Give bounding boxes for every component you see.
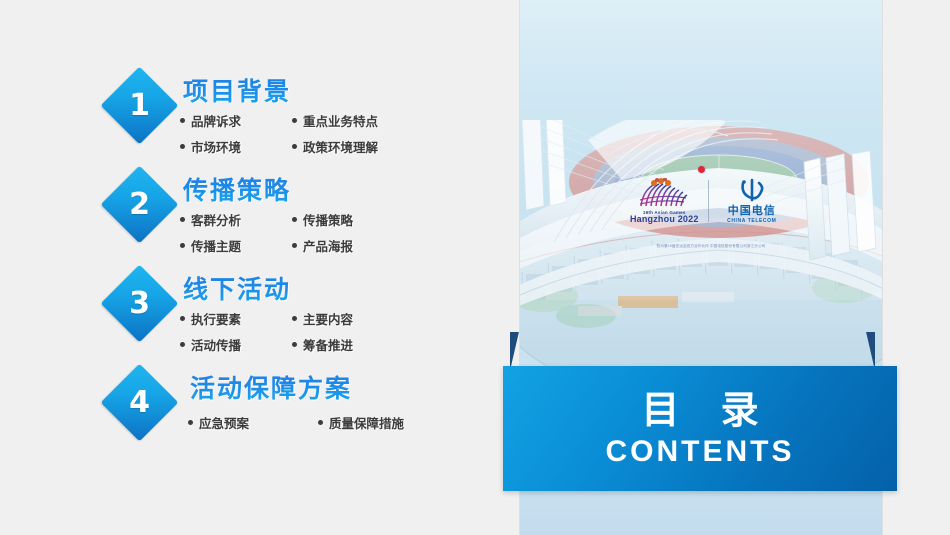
bullet-label: 产品海报 xyxy=(303,236,353,255)
bullet-item[interactable]: 主要内容 xyxy=(292,309,353,328)
bullet-dot-icon xyxy=(292,144,297,149)
venue-marker-dot-icon xyxy=(698,166,705,173)
bullet-label: 活动传播 xyxy=(191,335,241,354)
agenda-panel: 1 项目背景 品牌诉求 重点业务特点 市场环境 政策环境理解 2 传播策略 客群… xyxy=(0,0,500,535)
section-number-4: 4 xyxy=(112,375,167,430)
bullet-label: 客群分析 xyxy=(191,210,241,229)
section-number-badge-4: 4 xyxy=(101,364,179,442)
bullet-dot-icon xyxy=(180,243,185,248)
section-number-badge-2: 2 xyxy=(101,166,179,244)
section-bullets-2: 客群分析 传播策略 传播主题 产品海报 xyxy=(180,210,480,262)
bullet-row: 市场环境 政策环境理解 xyxy=(180,137,480,156)
bullet-dot-icon xyxy=(180,144,185,149)
bullet-row: 客群分析 传播策略 xyxy=(180,210,480,229)
bullet-item[interactable]: 品牌诉求 xyxy=(180,111,292,130)
bullet-dot-icon xyxy=(292,217,297,222)
section-number-badge-3: 3 xyxy=(101,265,179,343)
section-title-3: 线下活动 xyxy=(183,270,291,306)
section-title-4: 活动保障方案 xyxy=(190,369,352,405)
bullet-label: 应急预案 xyxy=(199,413,249,432)
bullet-item[interactable]: 活动传播 xyxy=(180,335,292,354)
bullet-dot-icon xyxy=(180,316,185,321)
bullet-item[interactable]: 产品海报 xyxy=(292,236,353,255)
agenda-section-2[interactable]: 2 传播策略 客群分析 传播策略 传播主题 产品海报 xyxy=(0,165,500,257)
hangzhou-asian-games-fan-icon xyxy=(633,178,695,208)
bullet-dot-icon xyxy=(180,342,185,347)
bullet-row: 执行要素 主要内容 xyxy=(180,309,480,328)
section-title-1: 项目背景 xyxy=(183,72,291,108)
china-telecom-logo: 中国电信 CHINA TELECOM xyxy=(716,178,789,224)
bullet-row: 应急预案 质量保障措施 xyxy=(188,413,498,432)
stadium-illustration xyxy=(520,120,882,400)
bullet-label: 政策环境理解 xyxy=(303,137,378,156)
bullet-item[interactable]: 客群分析 xyxy=(180,210,292,229)
bullet-label: 主要内容 xyxy=(303,309,353,328)
bullet-dot-icon xyxy=(292,316,297,321)
bullet-item[interactable]: 传播策略 xyxy=(292,210,353,229)
logo-divider xyxy=(708,180,709,222)
bullet-label: 传播主题 xyxy=(191,236,241,255)
logo-subtext: 杭州第19届亚运会官方合作伙伴 中国电信股份有限公司浙江分公司 xyxy=(616,244,806,249)
contents-box: 目 录 CONTENTS xyxy=(503,366,897,491)
section-number-1: 1 xyxy=(112,78,167,133)
asian-games-logo: 19th Asian Games Hangzhou 2022 xyxy=(628,178,701,224)
agenda-section-3[interactable]: 3 线下活动 执行要素 主要内容 活动传播 筹备推进 xyxy=(0,264,500,356)
section-bullets-4: 应急预案 质量保障措施 xyxy=(188,413,498,439)
agenda-section-4[interactable]: 4 活动保障方案 应急预案 质量保障措施 xyxy=(0,363,500,455)
bullet-item[interactable]: 筹备推进 xyxy=(292,335,353,354)
contents-title-en: CONTENTS xyxy=(606,437,795,467)
bullet-dot-icon xyxy=(292,342,297,347)
bullet-dot-icon xyxy=(188,420,193,425)
bullet-item[interactable]: 执行要素 xyxy=(180,309,292,328)
section-bullets-1: 品牌诉求 重点业务特点 市场环境 政策环境理解 xyxy=(180,111,480,163)
bullet-label: 执行要素 xyxy=(191,309,241,328)
bullet-dot-icon xyxy=(292,243,297,248)
bullet-item[interactable]: 重点业务特点 xyxy=(292,111,378,130)
bullet-label: 质量保障措施 xyxy=(329,413,404,432)
agenda-section-1[interactable]: 1 项目背景 品牌诉求 重点业务特点 市场环境 政策环境理解 xyxy=(0,66,500,158)
bullet-label: 筹备推进 xyxy=(303,335,353,354)
bullet-dot-icon xyxy=(180,217,185,222)
contents-title-cn: 目 录 xyxy=(627,391,772,429)
logo-strip: 19th Asian Games Hangzhou 2022 中国电信 CHIN… xyxy=(628,178,788,240)
bullet-label: 市场环境 xyxy=(191,137,241,156)
bullet-row: 活动传播 筹备推进 xyxy=(180,335,480,354)
section-number-badge-1: 1 xyxy=(101,67,179,145)
bullet-dot-icon xyxy=(292,118,297,123)
asian-games-logo-line2: Hangzhou 2022 xyxy=(628,215,701,224)
china-telecom-label-cn: 中国电信 xyxy=(716,205,789,217)
bullet-item[interactable]: 传播主题 xyxy=(180,236,292,255)
bullet-item[interactable]: 应急预案 xyxy=(188,413,318,432)
bullet-row: 传播主题 产品海报 xyxy=(180,236,480,255)
bullet-label: 传播策略 xyxy=(303,210,353,229)
bullet-dot-icon xyxy=(180,118,185,123)
bullet-label: 重点业务特点 xyxy=(303,111,378,130)
section-number-3: 3 xyxy=(112,276,167,331)
bullet-item[interactable]: 质量保障措施 xyxy=(318,413,404,432)
china-telecom-label-en: CHINA TELECOM xyxy=(716,218,789,224)
china-telecom-mark-icon xyxy=(737,178,767,204)
bullet-dot-icon xyxy=(318,420,323,425)
section-bullets-3: 执行要素 主要内容 活动传播 筹备推进 xyxy=(180,309,480,361)
bullet-item[interactable]: 政策环境理解 xyxy=(292,137,378,156)
section-number-2: 2 xyxy=(112,177,167,232)
bullet-row: 品牌诉求 重点业务特点 xyxy=(180,111,480,130)
bullet-label: 品牌诉求 xyxy=(191,111,241,130)
bullet-item[interactable]: 市场环境 xyxy=(180,137,292,156)
section-title-2: 传播策略 xyxy=(183,171,291,207)
